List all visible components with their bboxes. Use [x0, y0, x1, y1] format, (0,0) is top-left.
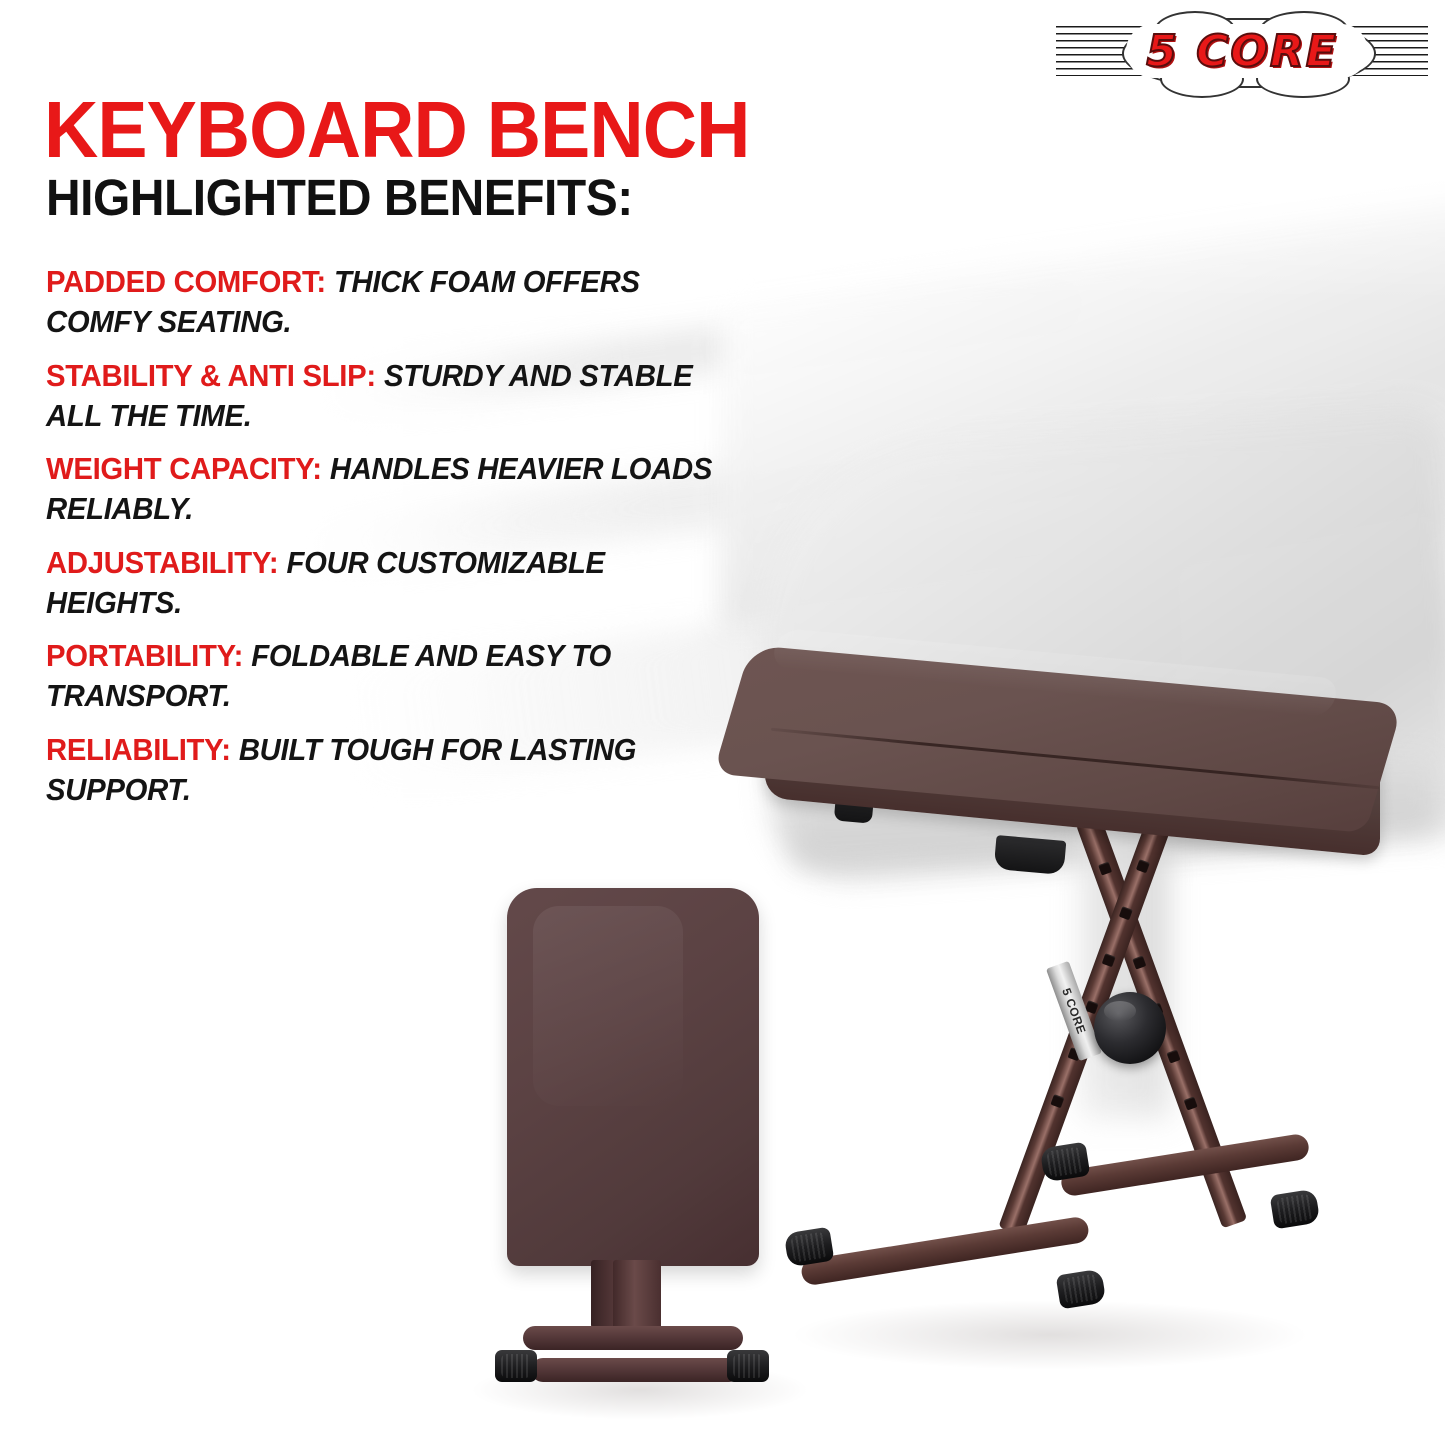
- benefit-item: PORTABILITY: FOLDABLE AND EASY TO TRANSP…: [46, 636, 737, 717]
- bench-seat-cushion: [735, 645, 1415, 875]
- rubber-foot-cap: [495, 1350, 537, 1382]
- benefit-item: RELIABILITY: BUILT TOUGH FOR LASTING SUP…: [46, 730, 737, 811]
- benefit-label: WEIGHT CAPACITY:: [46, 452, 322, 486]
- folded-bench-foot-bar: [523, 1326, 743, 1350]
- bench-foot-tube-back: [1060, 1133, 1311, 1198]
- benefit-label: RELIABILITY:: [46, 733, 231, 767]
- benefit-label: PORTABILITY:: [46, 639, 243, 673]
- folded-bench-cushion: [507, 888, 759, 1266]
- seat-bracket: [1290, 798, 1345, 840]
- benefit-label: PADDED COMFORT:: [46, 265, 326, 299]
- benefit-item: WEIGHT CAPACITY: HANDLES HEAVIER LOADS R…: [46, 449, 737, 530]
- frame-brand-plate: 5 CORE: [1046, 961, 1102, 1061]
- page-title: KEYBOARD BENCH: [44, 92, 890, 168]
- bench-foot-tube-front: [800, 1215, 1090, 1286]
- rubber-foot-cap: [1056, 1269, 1107, 1310]
- frame-plate-text: 5 CORE: [1059, 986, 1088, 1036]
- rubber-foot-cap: [784, 1227, 835, 1268]
- seat-bracket: [994, 835, 1067, 875]
- rubber-foot-cap: [1040, 1142, 1091, 1183]
- benefit-label: STABILITY & ANTI SLIP:: [46, 359, 376, 393]
- folded-bench-stem: [613, 1260, 661, 1334]
- cushion-side-face: [765, 677, 1380, 856]
- folded-bench-foot-bar: [531, 1358, 741, 1382]
- logo-text: 5 CORE: [1056, 18, 1428, 84]
- height-adjustment-knob: [1094, 992, 1166, 1064]
- rubber-foot-cap: [727, 1350, 769, 1382]
- five-core-logo: 5 CORE: [1056, 18, 1428, 84]
- benefit-item: ADJUSTABILITY: FOUR CUSTOMIZABLE HEIGHTS…: [46, 543, 737, 624]
- benefit-item: STABILITY & ANTI SLIP: STURDY AND STABLE…: [46, 356, 737, 437]
- page-subtitle: HIGHLIGHTED BENEFITS:: [46, 172, 892, 223]
- bench-leg-left: [1076, 816, 1248, 1229]
- cushion-top-face: [713, 645, 1403, 833]
- rubber-foot-cap: [1270, 1189, 1321, 1230]
- folded-bench: [495, 888, 785, 1398]
- benefit-label: ADJUSTABILITY:: [46, 546, 278, 580]
- cushion-seam: [771, 728, 1379, 790]
- bench-leg-right: [998, 814, 1173, 1236]
- product-infographic: 5 CORE KEYBOARD BENCH HIGHLIGHTED BENEFI…: [0, 0, 1445, 1445]
- benefits-list: PADDED COMFORT: THICK FOAM OFFERS COMFY …: [46, 262, 766, 823]
- seat-bracket: [834, 790, 874, 823]
- benefit-item: PADDED COMFORT: THICK FOAM OFFERS COMFY …: [46, 262, 737, 343]
